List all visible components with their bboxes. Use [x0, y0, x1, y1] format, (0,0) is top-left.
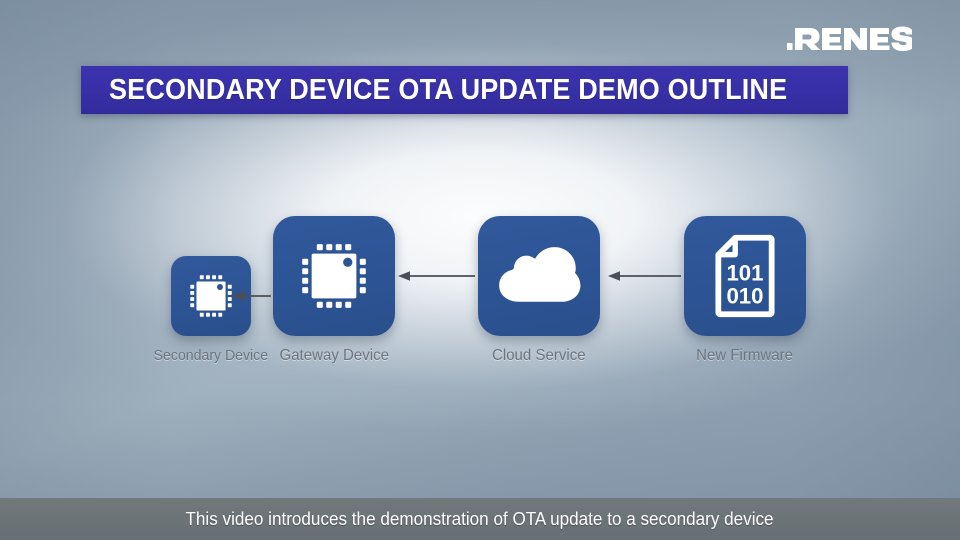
node-gateway-device[interactable]: Gateway Device — [273, 216, 395, 365]
microchip-icon — [291, 233, 377, 319]
page-title: SECONDARY DEVICE OTA UPDATE DEMO OUTLINE — [109, 74, 787, 107]
slide-canvas: SECONDARY DEVICE OTA UPDATE DEMO OUTLINE — [0, 0, 960, 540]
microchip-icon — [183, 268, 239, 324]
cloud-icon — [496, 241, 582, 311]
node-label-gateway-device: Gateway Device — [279, 347, 389, 365]
renesas-logo — [786, 24, 912, 54]
arrow-firmware-to-cloud — [608, 269, 682, 283]
title-banner: SECONDARY DEVICE OTA UPDATE DEMO OUTLINE — [81, 66, 848, 114]
firmware-bits-line2: 010 — [726, 284, 763, 309]
node-secondary-device[interactable]: Secondary Device — [150, 256, 272, 364]
flow-diagram: Secondary Device — [0, 200, 960, 375]
binary-file-icon: 101 010 — [713, 234, 777, 318]
tile-cloud-service — [478, 216, 600, 336]
tile-new-firmware: 101 010 — [684, 216, 806, 336]
arrow-cloud-to-gateway — [398, 269, 476, 283]
caption-bar: This video introduces the demonstration … — [0, 498, 960, 540]
node-cloud-service[interactable]: Cloud Service — [478, 216, 600, 365]
arrow-gateway-to-secondary — [232, 289, 272, 303]
node-label-cloud-service: Cloud Service — [492, 347, 586, 365]
caption-text: This video introduces the demonstration … — [186, 509, 774, 530]
node-label-secondary-device: Secondary Device — [154, 347, 268, 364]
node-new-firmware[interactable]: 101 010 New Firmware — [684, 216, 806, 365]
firmware-bits-line1: 101 — [726, 260, 763, 285]
tile-gateway-device — [273, 216, 395, 336]
node-label-new-firmware: New Firmware — [697, 347, 794, 365]
